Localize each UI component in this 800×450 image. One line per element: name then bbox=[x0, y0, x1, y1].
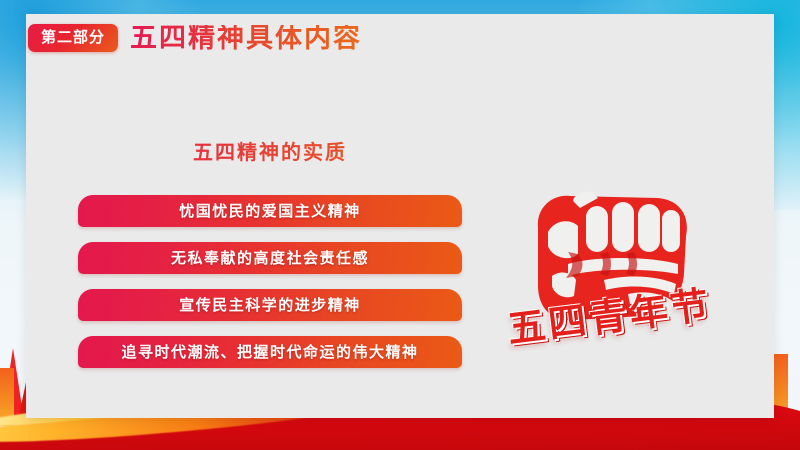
list-item-label: 无私奉献的高度社会责任感 bbox=[171, 251, 369, 266]
section-badge: 第二部分 bbox=[28, 24, 118, 52]
slide-header: 第二部分 五四精神具体内容 bbox=[28, 24, 362, 52]
slide-artwork: 五四青年节 bbox=[478, 168, 768, 388]
list-item: 忧国忧民的爱国主义精神 bbox=[78, 195, 462, 227]
list-item: 宣传民主科学的进步精神 bbox=[78, 289, 462, 321]
list-item: 无私奉献的高度社会责任感 bbox=[78, 242, 462, 274]
list-item-label: 宣传民主科学的进步精神 bbox=[179, 298, 361, 313]
points-list: 忧国忧民的爱国主义精神 无私奉献的高度社会责任感 宣传民主科学的进步精神 追寻时… bbox=[78, 195, 462, 368]
section-subtitle: 五四精神的实质 bbox=[78, 141, 462, 163]
list-item: 追寻时代潮流、把握时代命运的伟大精神 bbox=[78, 336, 462, 368]
list-item-label: 忧国忧民的爱国主义精神 bbox=[179, 204, 361, 219]
page-title: 五四精神具体内容 bbox=[130, 25, 362, 52]
list-item-label: 追寻时代潮流、把握时代命运的伟大精神 bbox=[121, 345, 418, 360]
presentation-slide: 第二部分 五四精神具体内容 五四精神的实质 忧国忧民的爱国主义精神 无私奉献的高… bbox=[0, 0, 800, 450]
